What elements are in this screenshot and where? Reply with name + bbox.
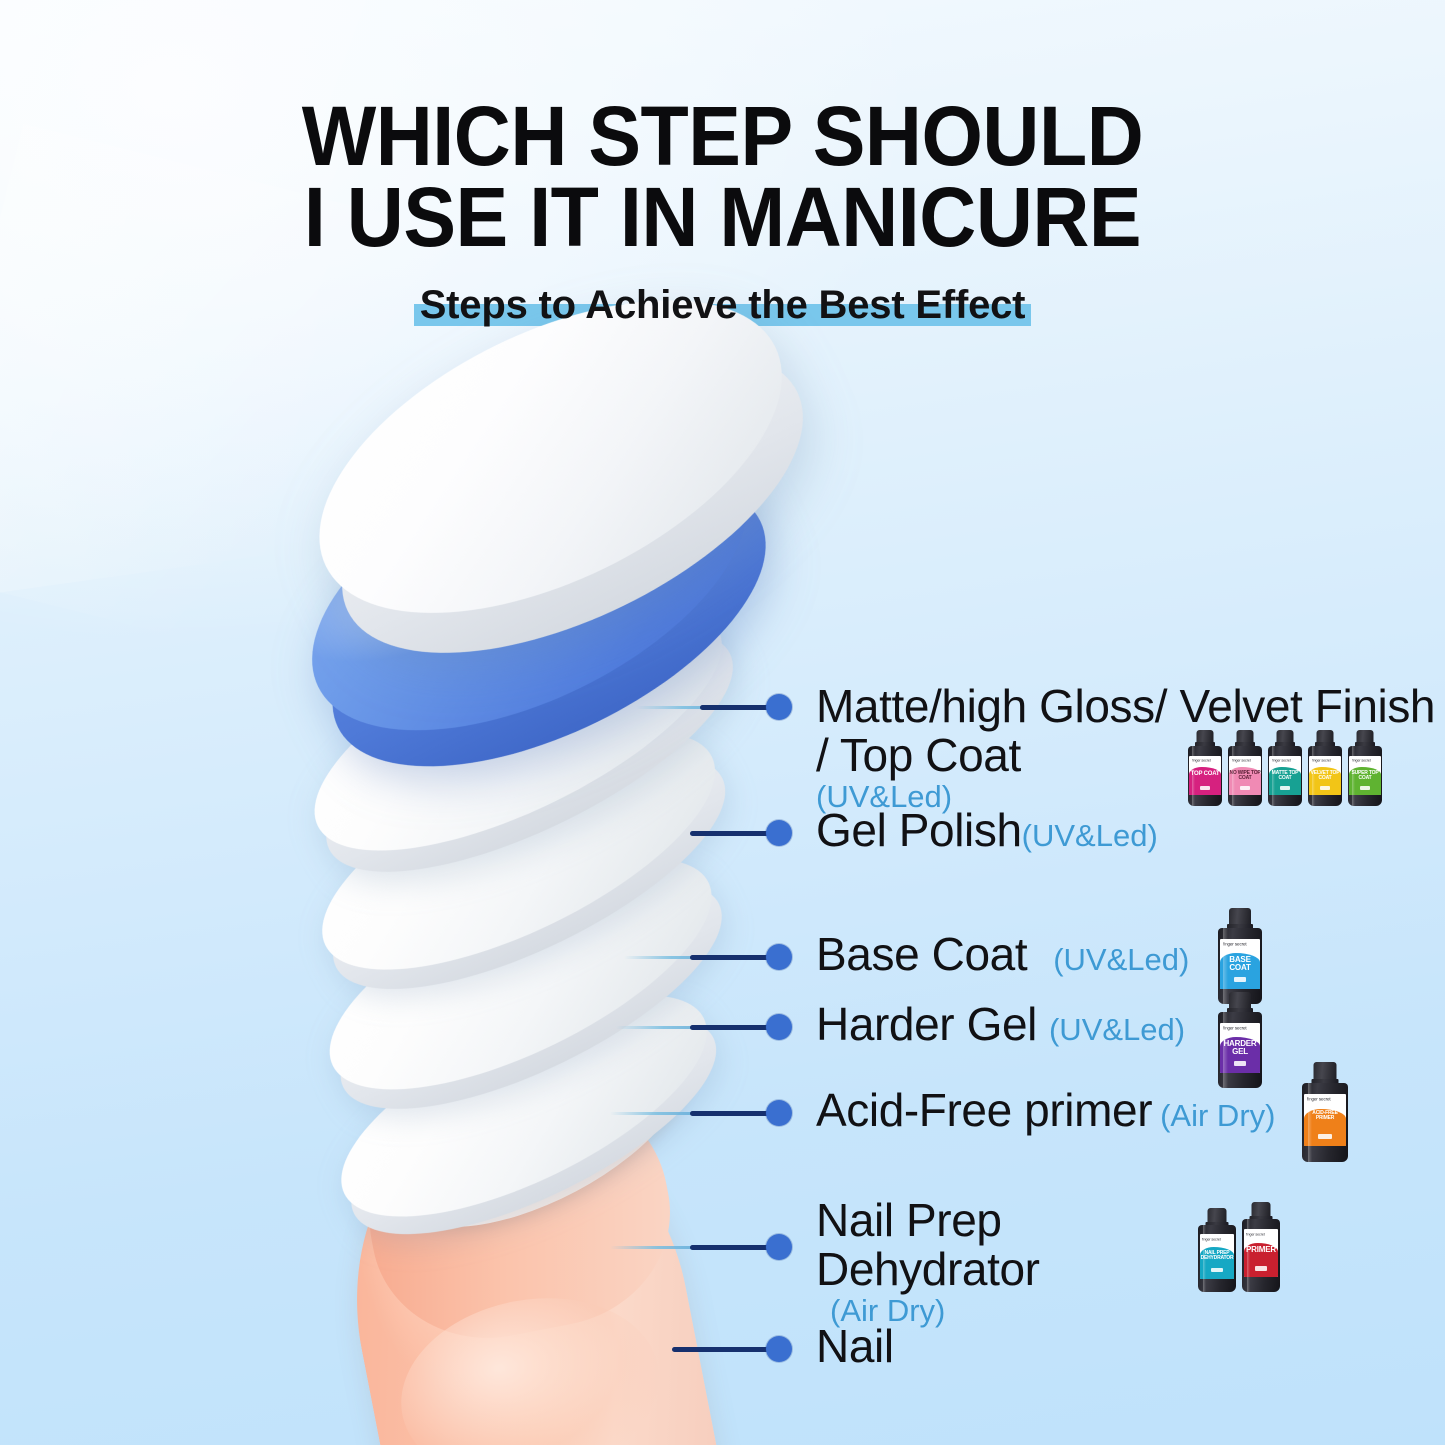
bottle-matte-top-coat: finger secret MATTE TOP COAT xyxy=(1268,730,1302,806)
bottle-product-name: NO WIPE TOP COAT xyxy=(1229,771,1260,782)
bottle-brand-text: finger secret xyxy=(1232,758,1251,763)
bottle-product-name: ACID-FREE PRIMER xyxy=(1304,1111,1346,1122)
bottle-brand-text: finger secret xyxy=(1202,1237,1221,1242)
bottle-body: finger secret HARDER GEL xyxy=(1218,1012,1262,1088)
label-nail-prep-line-1: Nail Prep xyxy=(816,1196,1040,1245)
bottle-product-name: VELVET TOP COAT xyxy=(1309,771,1340,782)
bottle-brand-text: finger secret xyxy=(1307,1097,1331,1102)
label-gel-polish-name: Gel Polish xyxy=(816,804,1022,856)
label-base-coat-note: (UV&Led) xyxy=(1053,942,1189,977)
bottle-product-name: NAIL PREP DEHYDRATOR xyxy=(1200,1251,1235,1262)
bottle-body: finger secret TOP COAT xyxy=(1188,746,1222,806)
bottle-harder-gel: finger secret HARDER GEL xyxy=(1218,992,1262,1088)
subtitle-wrapper: Steps to Achieve the Best Effect xyxy=(420,283,1026,328)
label-harder-gel-name: Harder Gel xyxy=(816,998,1037,1050)
bottle-body: finger secret MATTE TOP COAT xyxy=(1268,746,1302,806)
bottle-super-top-coat: finger secret SUPER TOP COAT xyxy=(1348,730,1382,806)
label-gel-polish: Gel Polish(UV&Led) xyxy=(816,806,1158,855)
bottle-product-name: MATTE TOP COAT xyxy=(1269,771,1300,782)
bottle-label: finger secret NO WIPE TOP COAT xyxy=(1229,756,1260,796)
label-acid-free-primer-name: Acid-Free primer xyxy=(816,1084,1152,1136)
bottle-brand-text: finger secret xyxy=(1192,758,1211,763)
bottle-group-top-coats: finger secret TOP COAT finger secret NO … xyxy=(1188,730,1382,806)
leader-dot-top-coat[interactable] xyxy=(766,694,792,720)
bottle-nail-prep-dehydrator: finger secret NAIL PREP DEHYDRATOR xyxy=(1198,1208,1236,1292)
bottle-label-chip xyxy=(1240,786,1250,790)
bottle-label-chip xyxy=(1234,1061,1247,1066)
leader-dot-nail[interactable] xyxy=(766,1336,792,1362)
bottle-label: finger secret ACID-FREE PRIMER xyxy=(1304,1094,1346,1146)
bottle-acid-free-primer: finger secret ACID-FREE PRIMER xyxy=(1302,1062,1348,1162)
label-acid-free-primer: Acid-Free primer(Air Dry) xyxy=(816,1086,1275,1135)
bottle-label-chip xyxy=(1360,786,1370,790)
leader-dot-nail-prep[interactable] xyxy=(766,1234,792,1260)
bottle-no-wipe-top-coat: finger secret NO WIPE TOP COAT xyxy=(1228,730,1262,806)
bottle-primer: finger secret PRIMER xyxy=(1242,1202,1280,1292)
bottle-label-chip xyxy=(1280,786,1290,790)
leader-dot-gel-polish[interactable] xyxy=(766,820,792,846)
label-top-coat-line-1: Matte/high Gloss/ Velvet Finish xyxy=(816,682,1435,731)
label-acid-free-primer-note: (Air Dry) xyxy=(1160,1098,1275,1133)
bottle-base-coat: finger secret BASE COAT xyxy=(1218,908,1262,1004)
bottle-brand-text: finger secret xyxy=(1312,758,1331,763)
label-base-coat: Base Coat(UV&Led) xyxy=(816,930,1189,979)
bottle-body: finger secret SUPER TOP COAT xyxy=(1348,746,1382,806)
bottle-label: finger secret HARDER GEL xyxy=(1220,1023,1261,1073)
bottle-body: finger secret NO WIPE TOP COAT xyxy=(1228,746,1262,806)
bottle-velvet-top-coat: finger secret VELVET TOP COAT xyxy=(1308,730,1342,806)
bottle-product-name: BASE COAT xyxy=(1220,956,1261,973)
bottle-label-chip xyxy=(1320,786,1330,790)
leader-dot-base-coat[interactable] xyxy=(766,944,792,970)
bottle-brand-text: finger secret xyxy=(1223,1026,1247,1031)
label-harder-gel-note: (UV&Led) xyxy=(1049,1012,1185,1047)
header: WHICH STEP SHOULD I USE IT IN MANICURE S… xyxy=(0,96,1445,328)
leader-dot-harder-gel[interactable] xyxy=(766,1014,792,1040)
label-nail-prep-dehydrator: Nail Prep Dehydrator(Air Dry) xyxy=(816,1196,1040,1328)
bottle-brand-text: finger secret xyxy=(1223,942,1247,947)
bottle-label: finger secret VELVET TOP COAT xyxy=(1309,756,1340,796)
bottle-product-name: SUPER TOP COAT xyxy=(1349,771,1380,782)
bottle-label: finger secret PRIMER xyxy=(1244,1229,1279,1277)
bottle-body: finger secret ACID-FREE PRIMER xyxy=(1302,1083,1348,1162)
bottle-brand-text: finger secret xyxy=(1272,758,1291,763)
bottle-label-chip xyxy=(1211,1268,1222,1272)
bottle-label: finger secret BASE COAT xyxy=(1220,939,1261,989)
bottle-label: finger secret TOP COAT xyxy=(1189,756,1220,796)
label-harder-gel: Harder Gel(UV&Led) xyxy=(816,1000,1185,1049)
title-line-2: I USE IT IN MANICURE xyxy=(43,177,1401,258)
bottle-body: finger secret PRIMER xyxy=(1242,1219,1280,1292)
bottle-group-prep-pair: finger secret NAIL PREP DEHYDRATOR finge… xyxy=(1198,1202,1280,1292)
bottle-label-chip xyxy=(1255,1266,1266,1271)
bottle-cap-icon xyxy=(1314,1062,1337,1080)
title-line-1: WHICH STEP SHOULD xyxy=(302,89,1144,183)
bottle-body: finger secret VELVET TOP COAT xyxy=(1308,746,1342,806)
bottle-product-name: PRIMER xyxy=(1244,1246,1279,1254)
label-gel-polish-note: (UV&Led) xyxy=(1022,818,1158,853)
bottle-product-name: TOP COAT xyxy=(1189,771,1220,777)
infographic-canvas: WHICH STEP SHOULD I USE IT IN MANICURE S… xyxy=(0,0,1445,1445)
label-nail-prep-line-2: Dehydrator xyxy=(816,1245,1040,1294)
bottle-brand-text: finger secret xyxy=(1246,1232,1265,1237)
bottle-label-chip xyxy=(1318,1134,1332,1139)
bottle-cap-icon xyxy=(1252,1202,1271,1217)
subtitle: Steps to Achieve the Best Effect xyxy=(420,283,1026,327)
bottle-product-name: HARDER GEL xyxy=(1220,1040,1261,1057)
label-nail: Nail xyxy=(816,1322,894,1371)
bottle-cap-icon xyxy=(1229,992,1251,1009)
bottle-cap-icon xyxy=(1208,1208,1227,1223)
page-title: WHICH STEP SHOULD I USE IT IN MANICURE xyxy=(43,96,1401,259)
bottle-label-chip xyxy=(1234,977,1247,982)
bottle-body: finger secret NAIL PREP DEHYDRATOR xyxy=(1198,1225,1236,1292)
bottle-cap-icon xyxy=(1229,908,1251,925)
leader-dot-acid-free-primer[interactable] xyxy=(766,1100,792,1126)
label-nail-name: Nail xyxy=(816,1320,894,1372)
bottle-label: finger secret SUPER TOP COAT xyxy=(1349,756,1380,796)
bottle-top-coat: finger secret TOP COAT xyxy=(1188,730,1222,806)
bottle-label-chip xyxy=(1200,786,1210,790)
bottle-label: finger secret NAIL PREP DEHYDRATOR xyxy=(1200,1234,1235,1278)
bottle-brand-text: finger secret xyxy=(1352,758,1371,763)
label-base-coat-name: Base Coat xyxy=(816,928,1027,980)
bottle-label: finger secret MATTE TOP COAT xyxy=(1269,756,1300,796)
